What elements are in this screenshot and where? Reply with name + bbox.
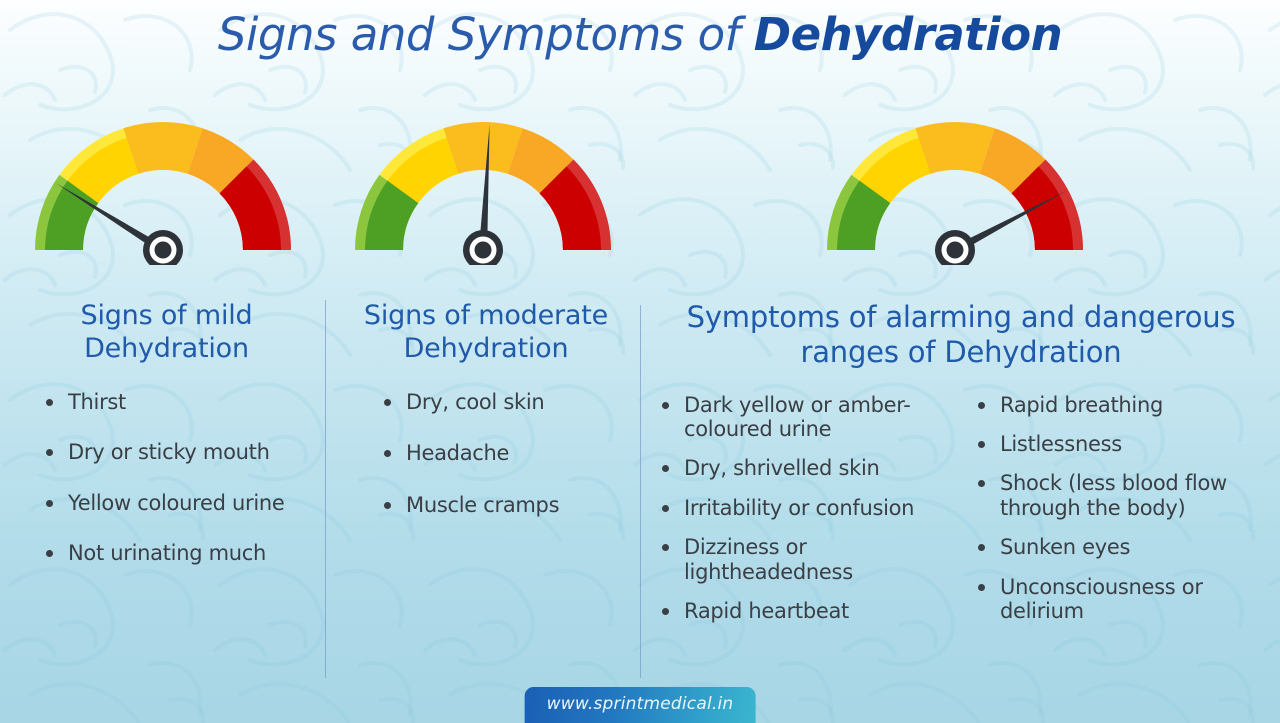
list-item: Shock (less blood flow through the body): [976, 471, 1266, 520]
list-item: Unconsciousness or delirium: [976, 575, 1266, 624]
list-item-label: Listlessness: [1000, 432, 1122, 456]
list-item: Dry or sticky mouth: [44, 440, 309, 464]
bullet-icon: [978, 584, 985, 591]
bullet-icon: [662, 505, 669, 512]
list-item: Sunken eyes: [976, 535, 1266, 559]
bullet-icon: [46, 550, 53, 557]
column-mild: Signs of mild Dehydration Thirst Dry or …: [24, 300, 309, 591]
column-divider-1: [325, 300, 326, 678]
list-item-label: Dry, cool skin: [406, 390, 544, 414]
bullet-icon: [384, 399, 391, 406]
bullet-icon: [662, 465, 669, 472]
bullet-icon: [46, 399, 53, 406]
infographic-poster: Signs and Symptoms of Dehydration: [0, 0, 1280, 723]
list-item-label: Muscle cramps: [406, 493, 559, 517]
bullet-icon: [384, 450, 391, 457]
list-item: Headache: [382, 441, 632, 465]
bullet-icon: [662, 402, 669, 409]
bullet-icon: [384, 502, 391, 509]
bullet-icon: [662, 608, 669, 615]
list-item: Muscle cramps: [382, 493, 632, 517]
list-item-label: Headache: [406, 441, 509, 465]
column-severe-list-right: Rapid breathing Listlessness Shock (less…: [976, 393, 1266, 639]
list-item-label: Thirst: [68, 390, 126, 414]
list-item-label: Sunken eyes: [1000, 535, 1130, 559]
list-item-label: Rapid breathing: [1000, 393, 1163, 417]
list-item-label: Dry or sticky mouth: [68, 440, 270, 464]
list-item-label: Shock (less blood flow through the body): [1000, 471, 1227, 519]
list-item: Dry, cool skin: [382, 390, 632, 414]
bullet-icon: [978, 480, 985, 487]
gauge-moderate: [338, 100, 628, 265]
website-badge[interactable]: www.sprintmedical.in: [525, 687, 756, 723]
column-mild-heading: Signs of mild Dehydration: [24, 300, 309, 366]
list-item: Rapid breathing: [976, 393, 1266, 417]
list-item: Dark yellow or amber-coloured urine: [660, 393, 960, 442]
list-item: Listlessness: [976, 432, 1266, 456]
column-severe: Symptoms of alarming and dangerous range…: [652, 300, 1270, 638]
bullet-icon: [978, 544, 985, 551]
list-item-label: Rapid heartbeat: [684, 599, 849, 623]
list-item: Not urinating much: [44, 541, 309, 565]
list-item-label: Unconsciousness or delirium: [1000, 575, 1203, 623]
list-item-label: Dark yellow or amber-coloured urine: [684, 393, 911, 441]
list-item: Dry, shrivelled skin: [660, 456, 960, 480]
list-item: Irritability or confusion: [660, 496, 960, 520]
column-moderate-heading: Signs of moderate Dehydration: [340, 300, 632, 366]
column-moderate: Signs of moderate Dehydration Dry, cool …: [340, 300, 632, 544]
list-item-label: Dry, shrivelled skin: [684, 456, 880, 480]
list-item: Thirst: [44, 390, 309, 414]
list-item-label: Irritability or confusion: [684, 496, 914, 520]
gauge-mild: [18, 100, 308, 265]
bullet-icon: [46, 449, 53, 456]
bullet-icon: [978, 402, 985, 409]
column-severe-heading: Symptoms of alarming and dangerous range…: [652, 300, 1270, 371]
bullet-icon: [978, 441, 985, 448]
column-severe-list-left: Dark yellow or amber-coloured urine Dry,…: [660, 393, 960, 639]
list-item-label: Not urinating much: [68, 541, 266, 565]
column-moderate-list: Dry, cool skin Headache Muscle cramps: [382, 390, 632, 517]
page-title-light: Signs and Symptoms of: [218, 8, 754, 61]
bullet-icon: [662, 544, 669, 551]
gauge-severe: [810, 100, 1100, 265]
column-divider-2: [640, 305, 641, 678]
page-title-bold: Dehydration: [754, 8, 1062, 61]
bullet-icon: [46, 500, 53, 507]
list-item: Rapid heartbeat: [660, 599, 960, 623]
list-item-label: Dizziness or lightheadedness: [684, 535, 853, 583]
page-title: Signs and Symptoms of Dehydration: [0, 8, 1280, 61]
list-item-label: Yellow coloured urine: [68, 491, 285, 515]
list-item: Yellow coloured urine: [44, 491, 309, 515]
list-item: Dizziness or lightheadedness: [660, 535, 960, 584]
column-mild-list: Thirst Dry or sticky mouth Yellow colour…: [44, 390, 309, 565]
